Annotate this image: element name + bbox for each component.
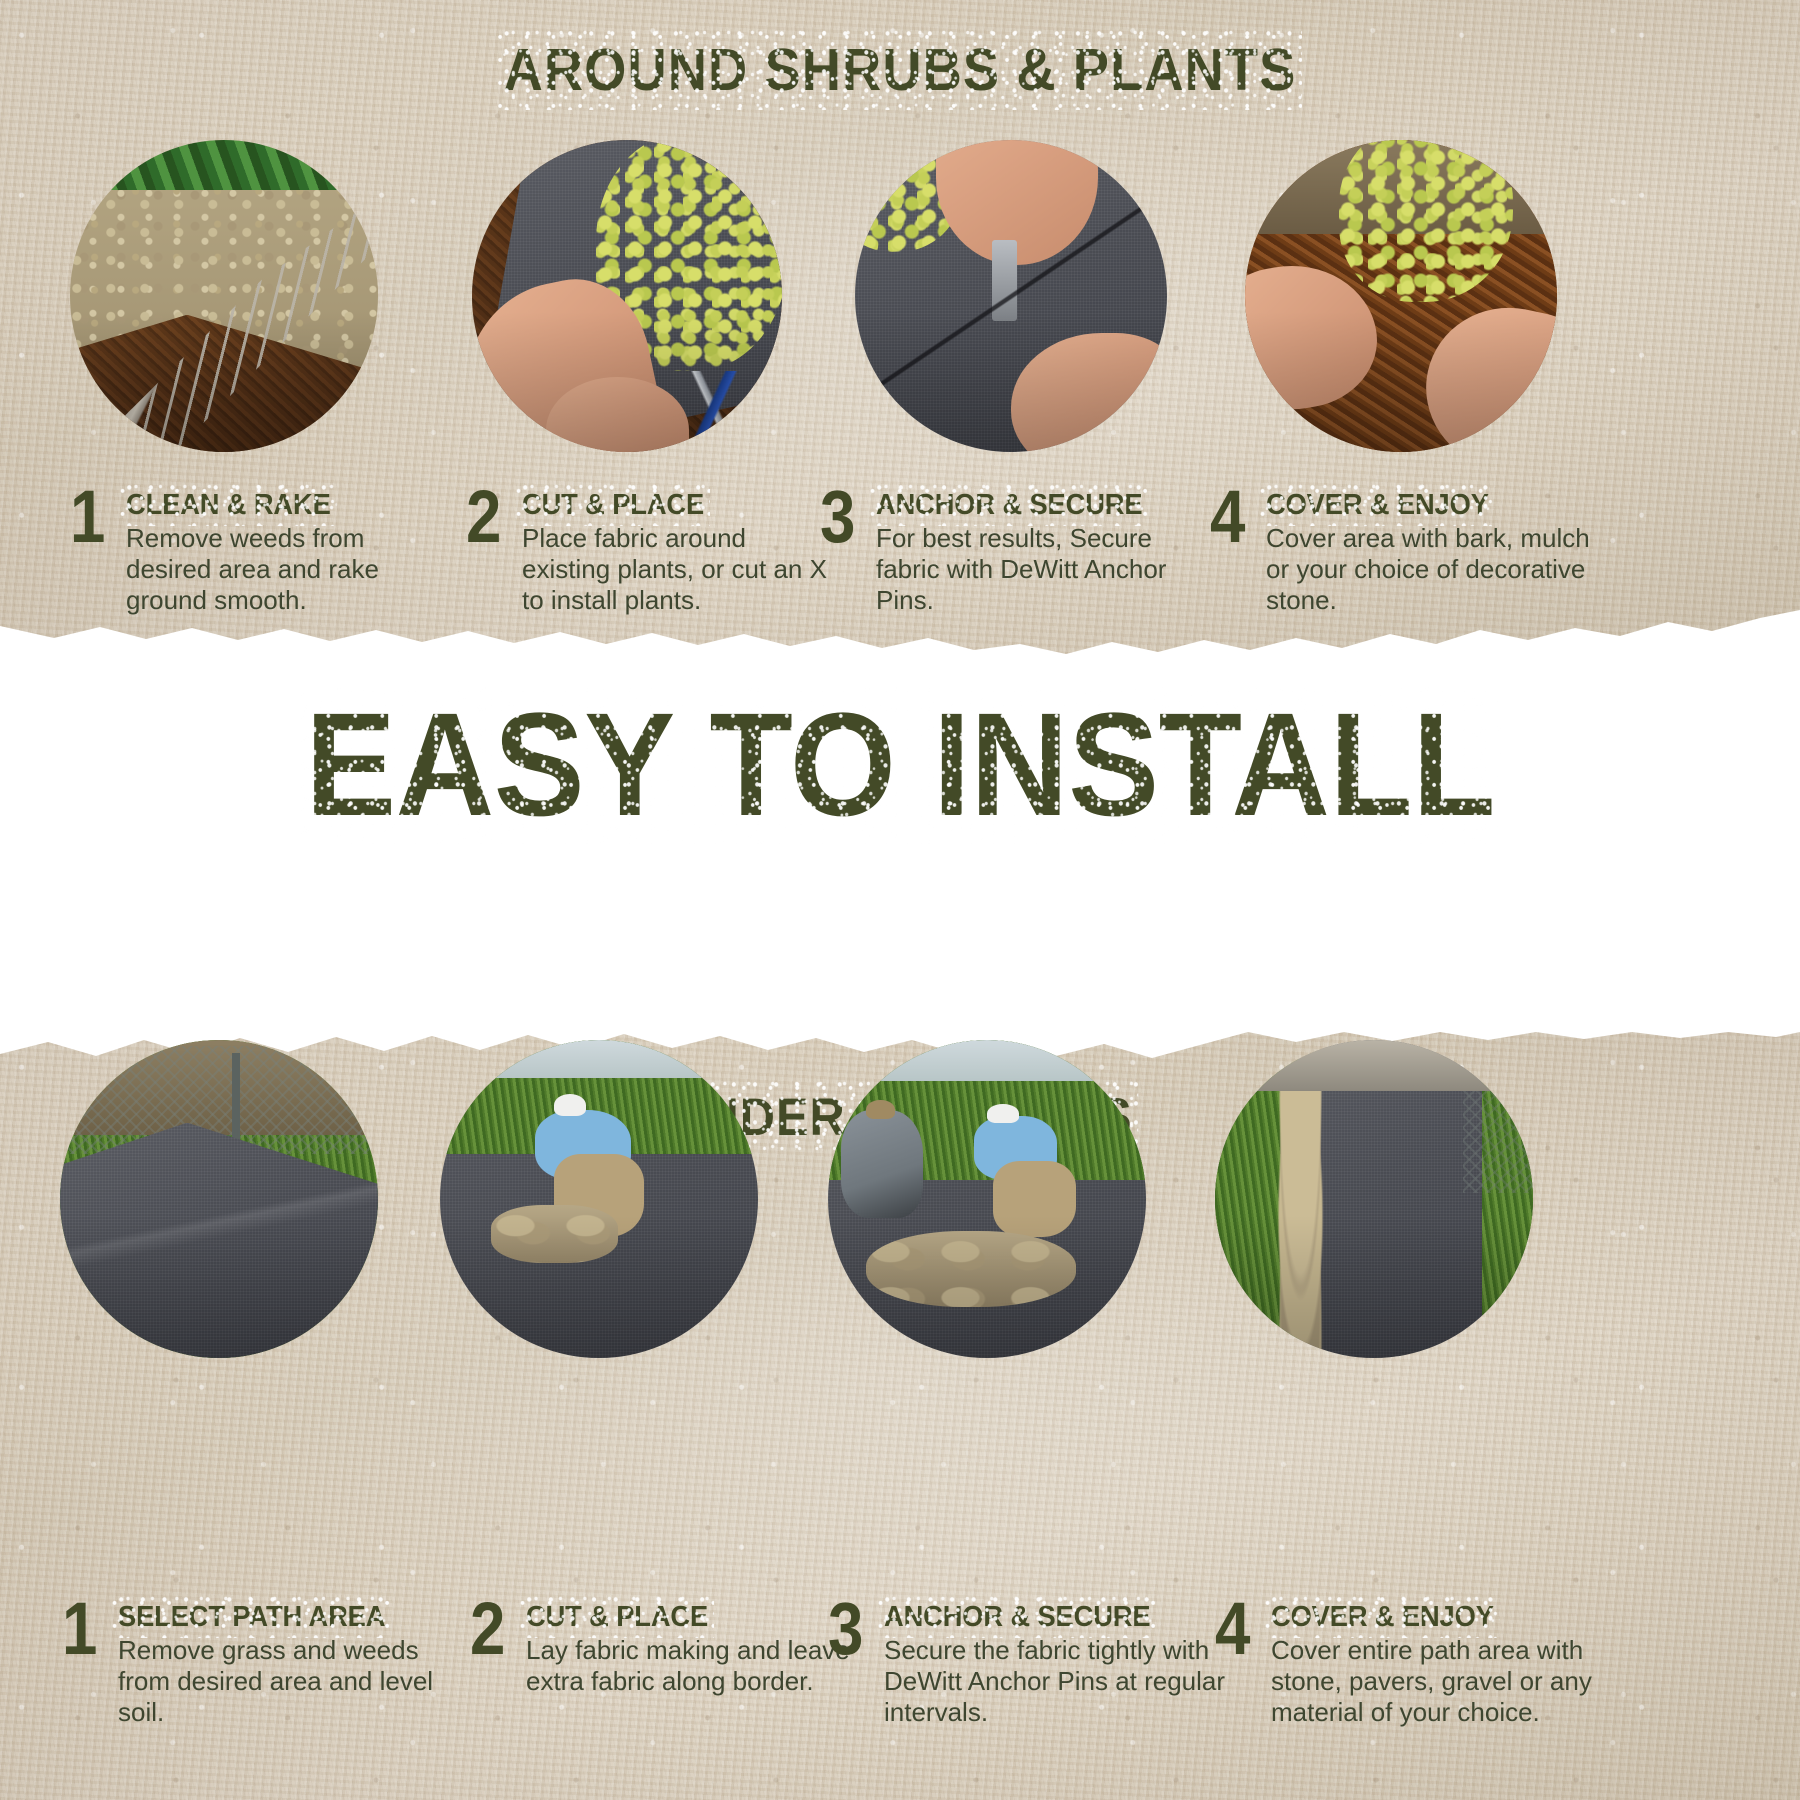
step-body: CLEAN & RAKE Remove weeds from desired a… xyxy=(126,490,436,615)
step-body: ANCHOR & SECURE Secure the fabric tightl… xyxy=(884,1602,1234,1727)
section-title-shrubs: AROUND SHRUBS & PLANTS xyxy=(72,36,1728,104)
step-number: 3 xyxy=(820,484,855,551)
photo-select-path-area xyxy=(60,1040,378,1358)
photo-cover-and-enjoy-mulch xyxy=(1245,140,1557,452)
step-description: Remove weeds from desired area and rake … xyxy=(126,523,436,615)
step-number: 2 xyxy=(466,484,501,551)
photo-two-workers-anchoring xyxy=(828,1040,1146,1358)
step-heading: CLEAN & RAKE xyxy=(126,490,331,520)
photo-layer-shading xyxy=(828,1040,1146,1358)
step-number: 3 xyxy=(828,1596,863,1663)
step-body: ANCHOR & SECURE For best results, Secure… xyxy=(876,490,1206,615)
step-body: CUT & PLACE Lay fabric making and leave … xyxy=(526,1602,866,1697)
step-description: For best results, Secure fabric with DeW… xyxy=(876,523,1206,615)
step-body: COVER & ENJOY Cover area with bark, mulc… xyxy=(1266,490,1606,615)
step-number: 4 xyxy=(1210,484,1245,551)
step-number: 2 xyxy=(470,1596,505,1663)
step-number: 4 xyxy=(1215,1596,1250,1663)
photo-layer-shading xyxy=(1245,140,1557,452)
photo-layer-shading xyxy=(440,1040,758,1358)
step-body: COVER & ENJOY Cover entire path area wit… xyxy=(1271,1602,1619,1727)
photo-cut-and-place-shrub xyxy=(472,140,782,452)
step-description: Secure the fabric tightly with DeWitt An… xyxy=(884,1635,1234,1727)
infographic-canvas: AROUND SHRUBS & PLANTS 1 xyxy=(0,0,1800,1800)
photo-layer-shading xyxy=(60,1040,378,1358)
step-description: Lay fabric making and leave extra fabric… xyxy=(526,1635,866,1696)
photo-clean-and-rake xyxy=(70,140,378,452)
photo-layer-shading xyxy=(855,140,1167,452)
photo-layer-shading xyxy=(70,140,378,452)
hero-title-text: EASY TO INSTALL xyxy=(305,692,1495,839)
step-heading: SELECT PATH AREA xyxy=(118,1602,385,1632)
photo-layer-shading xyxy=(472,140,782,452)
step-number: 1 xyxy=(62,1596,97,1663)
photo-finished-stone-path xyxy=(1215,1040,1533,1358)
hero-title: EASY TO INSTALL xyxy=(63,692,1737,839)
step-body: CUT & PLACE Place fabric around existing… xyxy=(522,490,832,615)
step-heading: CUT & PLACE xyxy=(522,490,704,520)
step-description: Remove grass and weeds from desired area… xyxy=(118,1635,458,1727)
step-heading: COVER & ENJOY xyxy=(1266,490,1489,520)
photo-anchor-and-secure-pin xyxy=(855,140,1167,452)
step-heading: ANCHOR & SECURE xyxy=(884,1602,1150,1632)
step-description: Place fabric around existing plants, or … xyxy=(522,523,832,615)
step-heading: CUT & PLACE xyxy=(526,1602,708,1632)
step-number: 1 xyxy=(70,484,105,551)
step-body: SELECT PATH AREA Remove grass and weeds … xyxy=(118,1602,458,1727)
photo-layer-shading xyxy=(1215,1040,1533,1358)
step-description: Cover area with bark, mulch or your choi… xyxy=(1266,523,1606,615)
step-heading: ANCHOR & SECURE xyxy=(876,490,1142,520)
photo-worker-laying-fabric xyxy=(440,1040,758,1358)
step-heading: COVER & ENJOY xyxy=(1271,1602,1494,1632)
step-description: Cover entire path area with stone, paver… xyxy=(1271,1635,1619,1727)
section-title-shrubs-text: AROUND SHRUBS & PLANTS xyxy=(504,36,1297,104)
